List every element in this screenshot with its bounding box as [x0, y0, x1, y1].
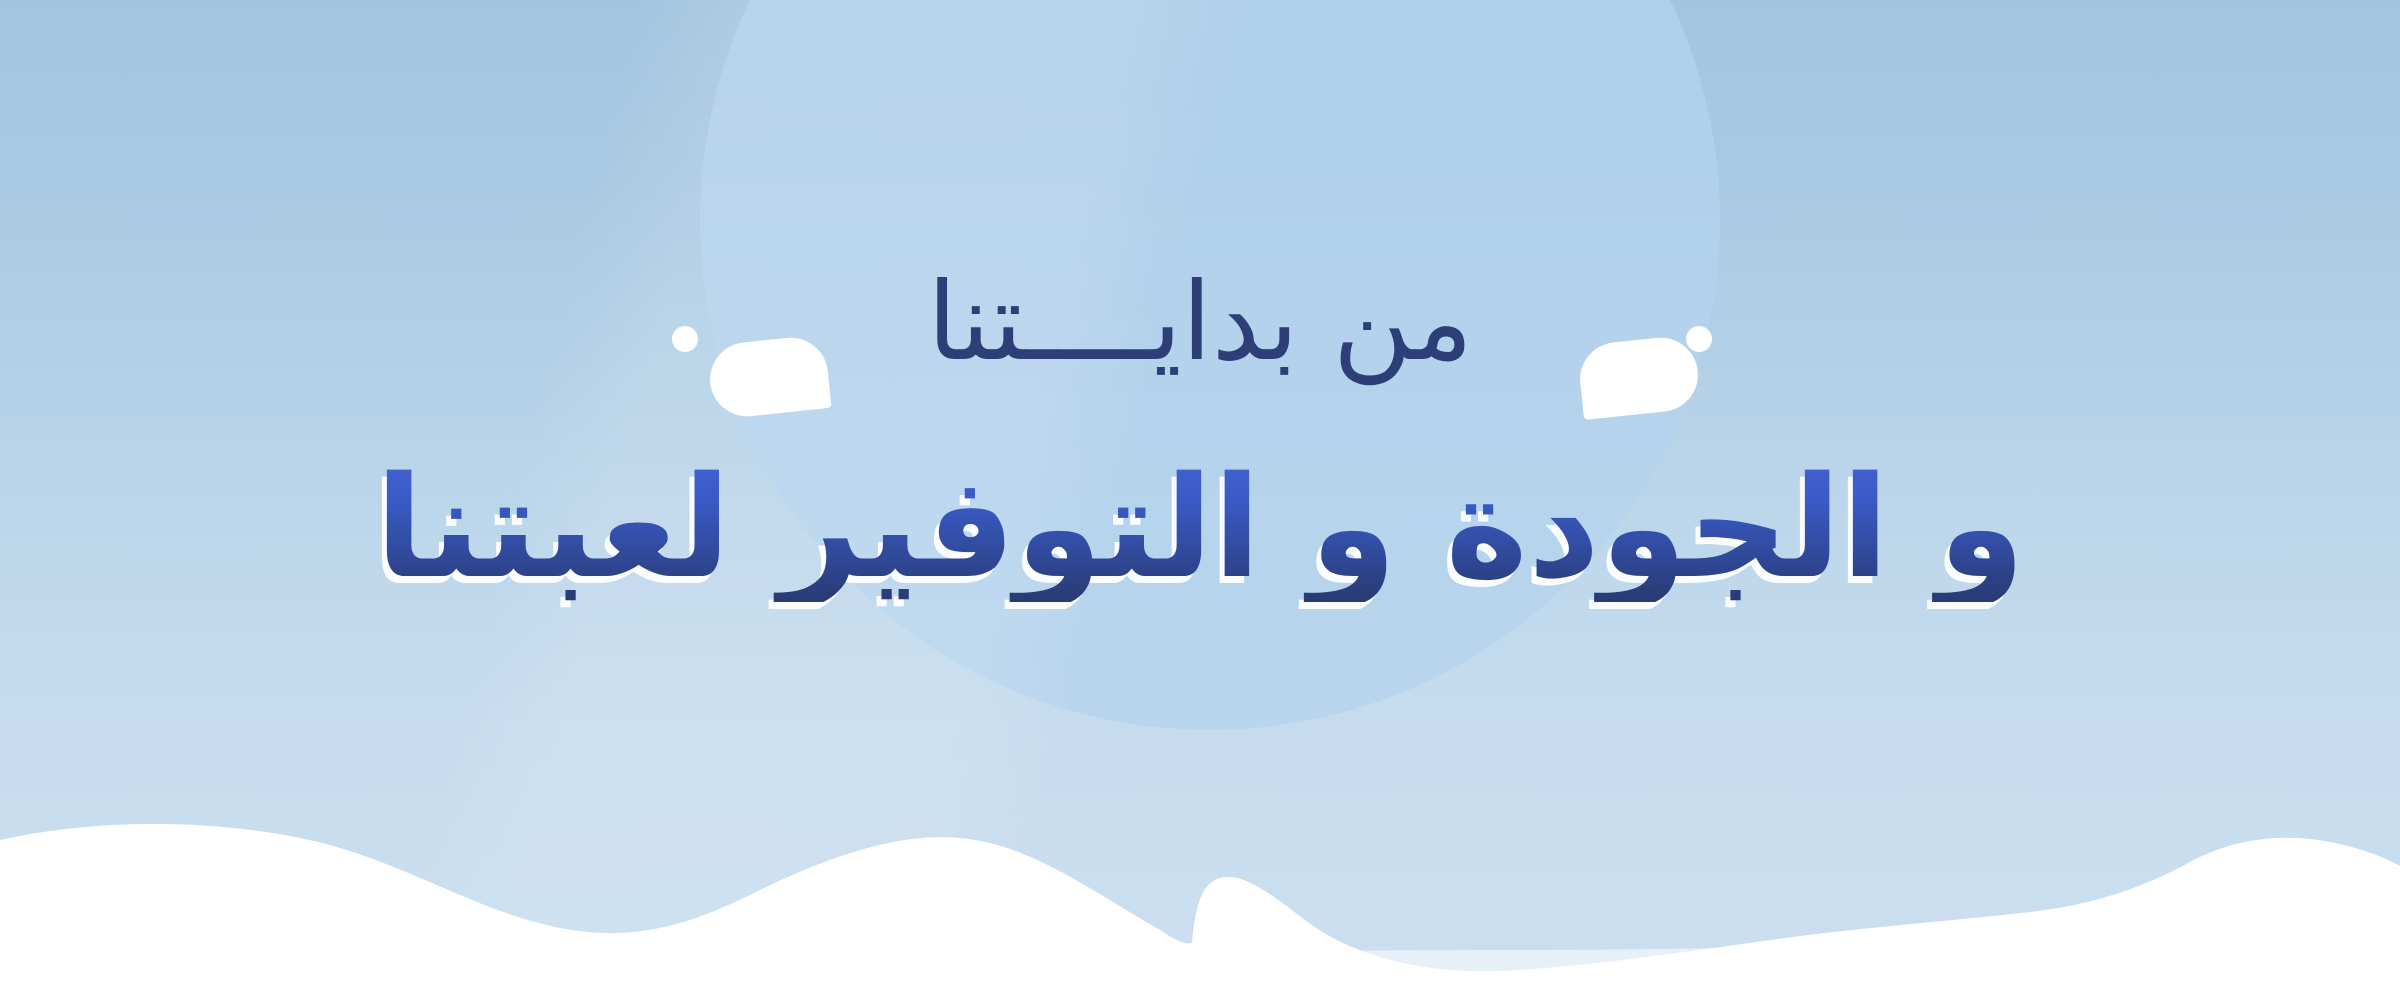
headline-line-1: من بدايــــتنا: [0, 268, 2400, 378]
promotional-banner: من بدايــــتنا و الجودة و التوفير لعبتنا: [0, 0, 2400, 1000]
headline-line-2: و الجودة و التوفير لعبتنا: [0, 455, 2400, 602]
bottom-snow-wave: [0, 780, 2400, 1000]
